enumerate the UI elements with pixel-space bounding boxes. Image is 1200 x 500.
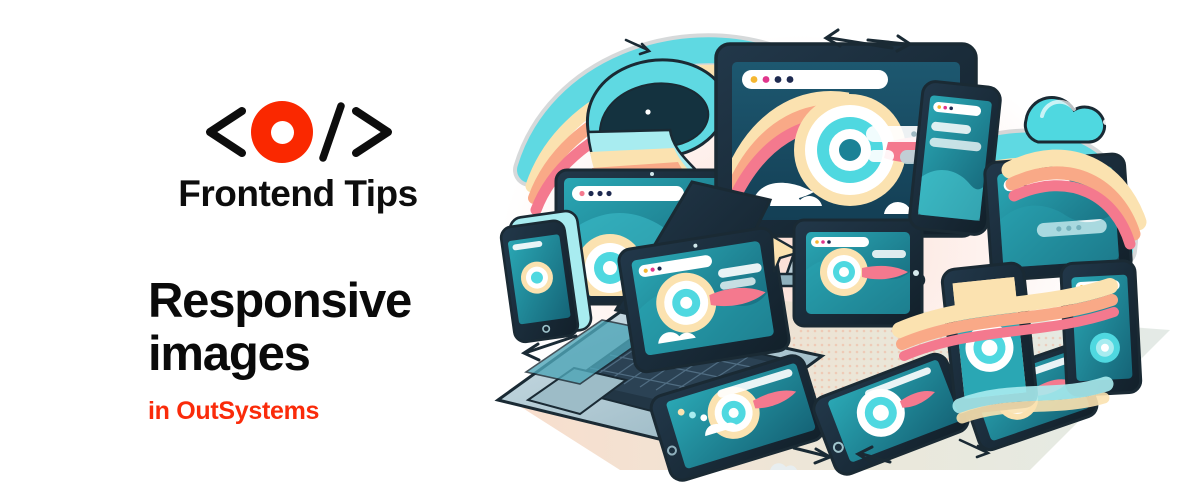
responsive-devices-illustration — [470, 0, 1200, 500]
browser-chrome-bar — [572, 186, 684, 201]
subheadline: in OutSystems — [148, 397, 468, 426]
tablet-center — [617, 227, 800, 374]
phone-right-front — [1060, 260, 1141, 396]
illustration-canvas — [470, 0, 1200, 500]
brand-block: Frontend Tips — [148, 96, 448, 215]
highlight-dot — [1103, 119, 1109, 125]
right-chevron-icon — [349, 102, 395, 162]
headline-line-1: Responsive — [148, 275, 468, 328]
ring-icon — [251, 101, 313, 163]
tablet-right — [794, 220, 922, 326]
browser-chrome-bar — [811, 237, 869, 247]
cloud-icon-right — [1025, 97, 1104, 142]
text-column: Frontend Tips Responsive images in OutSy… — [0, 0, 480, 500]
phone-left — [499, 210, 593, 344]
left-chevron-icon — [201, 102, 247, 162]
brand-name: Frontend Tips — [148, 174, 448, 215]
code-brackets-logo — [148, 96, 448, 168]
headline-block: Responsive images in OutSystems — [148, 275, 468, 426]
cloud-icon-small — [1100, 434, 1125, 440]
ring-hole — [271, 121, 294, 144]
browser-chrome-bar — [742, 70, 888, 89]
slash-icon — [317, 101, 347, 163]
banner-root: Frontend Tips Responsive images in OutSy… — [0, 0, 1200, 500]
headline-line-2: images — [148, 328, 468, 381]
